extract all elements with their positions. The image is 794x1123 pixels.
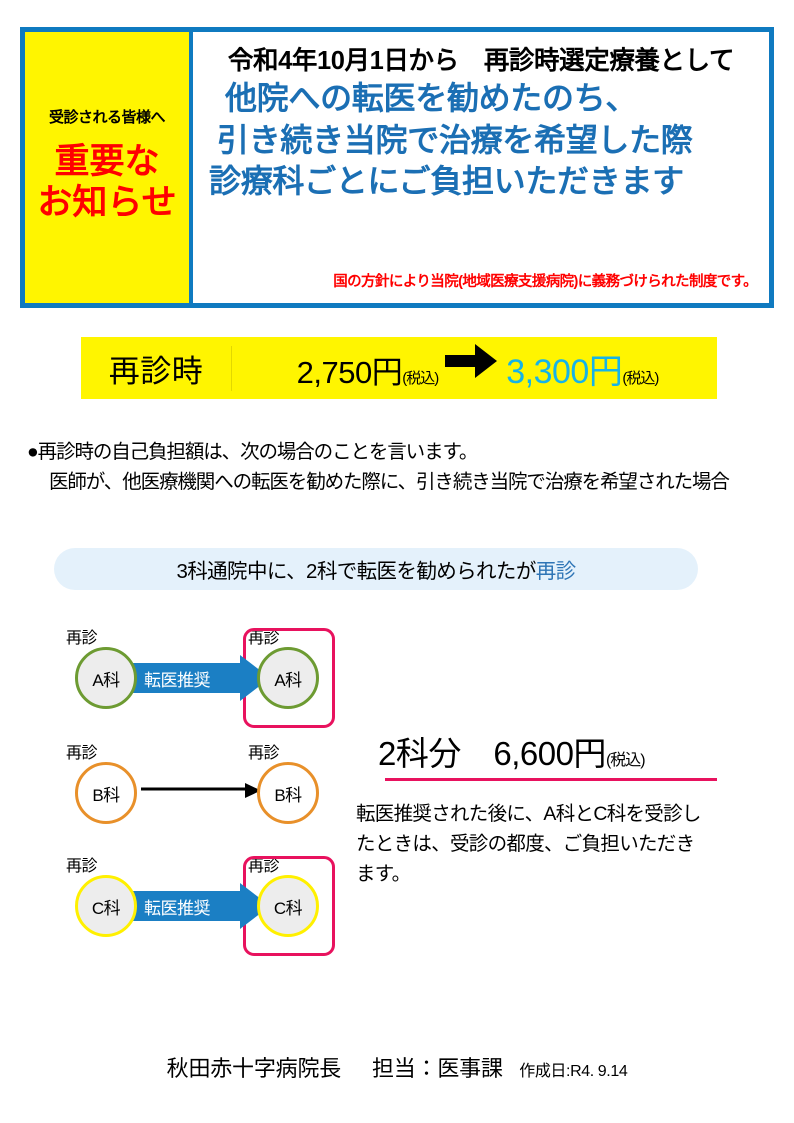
header-effective-date-line: 令和4年10月1日から 再診時選定療養として xyxy=(207,45,755,78)
summary-underline xyxy=(385,778,717,781)
important-notice-header: 受診される皆様へ 重要な お知らせ 令和4年10月1日から 再診時選定療養として… xyxy=(20,27,774,308)
footer-created-date: 作成日:R4. 9.14 xyxy=(519,1063,627,1080)
price-banner-label: 再診時 xyxy=(81,346,232,391)
price-change-banner: 再診時 2,750円 (税込) 3,300円 (税込) xyxy=(81,337,717,399)
header-legal-note: 国の方針により当院(地域医療支援病院)に義務づけられた制度です。 xyxy=(333,270,757,291)
row-b-left-node: B科 xyxy=(75,762,137,824)
header-important-line1: 重要な xyxy=(54,141,159,182)
header-yellow-panel: 受診される皆様へ 重要な お知らせ xyxy=(25,32,193,303)
old-price-amount: 2,750円 xyxy=(297,347,403,392)
footer-hospital: 秋田赤十字病院長 xyxy=(167,1056,341,1081)
header-main-panel: 令和4年10月1日から 再診時選定療養として 他院への転医を勧めたのち、 引き続… xyxy=(193,32,769,303)
header-blue-line-1: 他院への転医を勧めたのち、 xyxy=(207,78,755,120)
row-c-left-node: C科 xyxy=(75,875,137,937)
summary-amount: 2科分 6,600円 xyxy=(378,735,606,772)
summary-paragraph-line-1: 転医推奨された後に、A科とC科を受診し xyxy=(356,799,756,829)
case-example-heading-text: 3科通院中に、2科で転医を勧められたが再診 xyxy=(176,554,575,584)
summary-amount-line: 2科分 6,600円(税込) xyxy=(356,727,756,775)
row-c-left-visit-label: 再診 xyxy=(66,852,97,876)
summary-block: 2科分 6,600円(税込) 転医推奨された後に、A科とC科を受診し たときは、… xyxy=(356,727,756,890)
row-b-right-node: B科 xyxy=(257,762,319,824)
summary-paragraph-line-2: たときは、受診の都度、ご負担いただき xyxy=(356,829,756,859)
right-arrow-icon xyxy=(445,344,497,378)
header-important-line2: お知らせ xyxy=(37,182,176,223)
row-a-arrow-label: 転医推奨 xyxy=(144,666,210,691)
row-a-left-node: A科 xyxy=(75,647,137,709)
explanation-note: ●再診時の自己負担額は、次の場合のことを言います。 医師が、他医療機関への転医を… xyxy=(27,438,767,497)
header-blue-line-3: 診療科ごとにご負担いただきます xyxy=(207,161,755,203)
case-heading-main: 3科通院中に、2科で転医を勧められたが xyxy=(176,560,535,583)
row-a-recommend-arrow-icon: 転医推奨 xyxy=(130,655,270,701)
diagram-row-c: 再診 再診 C科 転医推奨 C科 xyxy=(58,850,358,965)
case-heading-accent: 再診 xyxy=(536,560,576,583)
row-a-right-node: A科 xyxy=(257,647,319,709)
diagram-row-b: 再診 再診 B科 B科 xyxy=(58,737,358,850)
row-c-arrow-label: 転医推奨 xyxy=(144,894,210,919)
summary-paragraph: 転医推奨された後に、A科とC科を受診し たときは、受診の都度、ご負担いただき ま… xyxy=(356,799,756,890)
row-b-right-visit-label: 再診 xyxy=(248,739,279,763)
case-example-heading: 3科通院中に、2科で転医を勧められたが再診 xyxy=(54,548,698,590)
note-line-1: ●再診時の自己負担額は、次の場合のことを言います。 xyxy=(27,438,767,468)
new-price-tax-note: (税込) xyxy=(622,367,658,388)
row-b-plain-arrow-icon xyxy=(141,783,261,799)
summary-amount-tax: (税込) xyxy=(606,752,645,769)
department-flow-diagram: 再診 再診 A科 転医推奨 A科 再診 再診 B科 B科 再診 再診 C科 xyxy=(58,622,358,965)
diagram-row-a: 再診 再診 A科 転医推奨 A科 xyxy=(58,622,358,737)
page-footer: 秋田赤十字病院長 担当：医事課 作成日:R4. 9.14 xyxy=(0,1051,794,1083)
header-audience-label: 受診される皆様へ xyxy=(49,106,165,127)
footer-charge: 担当：医事課 xyxy=(372,1056,503,1081)
row-a-left-visit-label: 再診 xyxy=(66,624,97,648)
row-c-recommend-arrow-icon: 転医推奨 xyxy=(130,883,270,929)
summary-paragraph-line-3: ます。 xyxy=(356,859,756,889)
old-price-tax-note: (税込) xyxy=(402,367,438,388)
header-blue-line-2: 引き続き当院で治療を希望した際 xyxy=(207,120,755,162)
note-line-2: 医師が、他医療機関への転医を勧めた際に、引き続き当院で治療を希望された場合 xyxy=(27,468,767,498)
row-c-right-node: C科 xyxy=(257,875,319,937)
row-b-left-visit-label: 再診 xyxy=(66,739,97,763)
new-price-amount: 3,300円 xyxy=(506,344,622,393)
price-banner-values: 2,750円 (税込) 3,300円 (税込) xyxy=(232,344,717,393)
